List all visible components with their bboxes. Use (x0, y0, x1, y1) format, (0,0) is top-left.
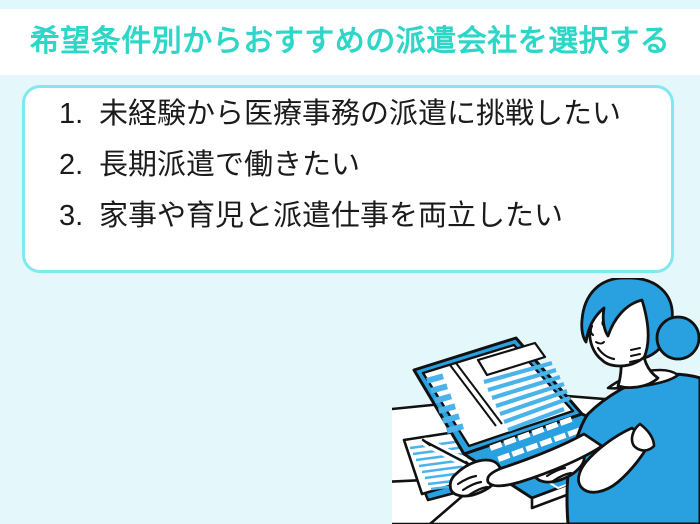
page-root: 希望条件別からおすすめの派遣会社を選択する 1. 未経験から医療事務の派遣に挑戦… (0, 0, 700, 524)
list-item-number: 1. (59, 100, 99, 129)
list-item-label: 未経験から医療事務の派遣に挑戦したい (99, 100, 621, 129)
title-band: 希望条件別からおすすめの派遣会社を選択する (0, 9, 700, 75)
list-item-label: 家事や育児と派遣仕事を両立したい (99, 202, 563, 231)
list-item[interactable]: 2. 長期派遣で働きたい (59, 151, 657, 180)
top-accent-strip (0, 0, 700, 9)
list-item[interactable]: 3. 家事や育児と派遣仕事を両立したい (59, 202, 657, 231)
list-item-number: 2. (59, 151, 99, 180)
conditions-list: 1. 未経験から医療事務の派遣に挑戦したい 2. 長期派遣で働きたい 3. 家事… (59, 100, 657, 231)
page-title: 希望条件別からおすすめの派遣会社を選択する (30, 27, 671, 57)
woman-hair-bun (657, 317, 699, 359)
list-item-label: 長期派遣で働きたい (99, 151, 360, 180)
list-item-number: 3. (59, 202, 99, 231)
conditions-card: 1. 未経験から医療事務の派遣に挑戦したい 2. 長期派遣で働きたい 3. 家事… (22, 85, 674, 273)
woman-typing-on-laptop-illustration (392, 278, 700, 524)
list-item[interactable]: 1. 未経験から医療事務の派遣に挑戦したい (59, 100, 657, 129)
